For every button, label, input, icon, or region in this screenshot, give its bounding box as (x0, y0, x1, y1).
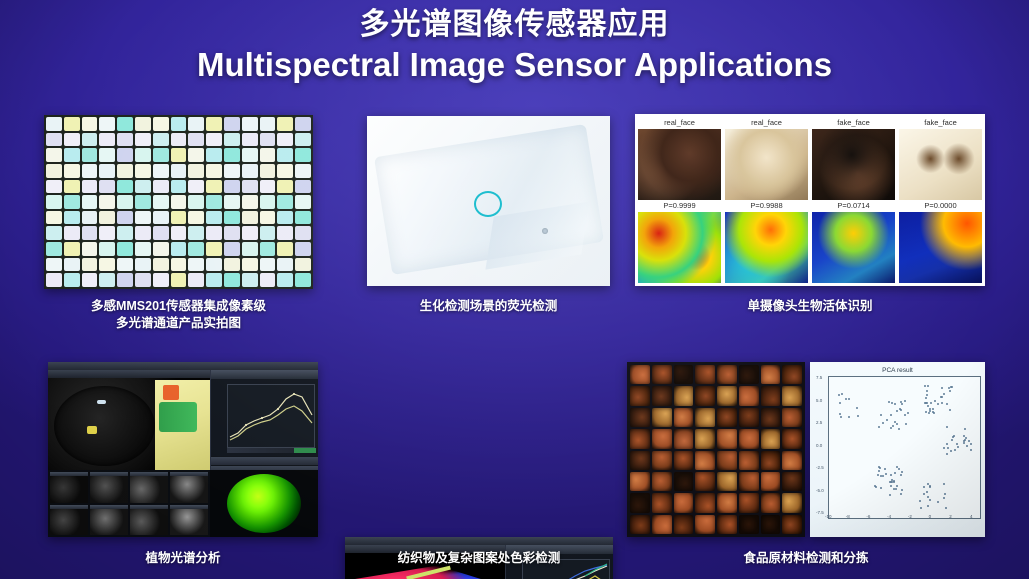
food-sample-cell (695, 451, 715, 470)
sample-speck (87, 426, 97, 434)
cfa-pixel (64, 133, 80, 147)
face-label: fake_face (812, 117, 895, 129)
cfa-pixel (206, 211, 222, 225)
cfa-pixel (260, 180, 276, 194)
food-sample-cell (674, 365, 694, 384)
cfa-pixel (82, 211, 98, 225)
cfa-pixel (260, 242, 276, 256)
cfa-pixel (295, 148, 311, 162)
pca-point (882, 475, 884, 477)
food-sample-cell (739, 472, 759, 491)
caption-sensor-array: 多感MMS201传感器集成像素级 多光谱通道产品实拍图 (44, 298, 313, 332)
food-sample-cell (739, 408, 759, 427)
pca-plot-area: 7.55.02.50.0-2.5-5.0-7.5-10-8-6-4-2024 (828, 376, 981, 519)
pca-point (925, 397, 927, 399)
caption-textile-color: 纺织物及复杂图案处色彩检测 (345, 550, 613, 567)
cfa-pixel (135, 117, 151, 131)
food-sample-cell (695, 515, 715, 534)
pca-point (895, 488, 897, 490)
cfa-pixel (64, 242, 80, 256)
caption-line-1: 纺织物及复杂图案处色彩检测 (345, 550, 613, 567)
label-package (155, 380, 210, 470)
pca-point (896, 423, 898, 425)
cfa-pixel (242, 226, 258, 240)
software-menubar (48, 362, 318, 370)
spectral-plot-area (227, 384, 315, 448)
cfa-pixel (171, 242, 187, 256)
pca-point (848, 416, 850, 418)
pca-point (919, 500, 921, 502)
pca-point (884, 468, 886, 470)
cfa-pixel (224, 273, 240, 287)
cfa-pixel (188, 148, 204, 162)
pca-point (920, 507, 922, 509)
face-heatmap (725, 212, 808, 283)
food-sample-grid (630, 365, 802, 534)
pca-point (966, 445, 968, 447)
pca-point (953, 435, 955, 437)
pca-point (879, 467, 881, 469)
food-sample-cell (739, 493, 759, 512)
cfa-pixel (117, 258, 133, 272)
cfa-pixel (99, 117, 115, 131)
cfa-pixel (117, 242, 133, 256)
cfa-pixel (260, 211, 276, 225)
color-filter-array-grid (44, 115, 313, 289)
cfa-pixel (64, 258, 80, 272)
pca-point (891, 481, 893, 483)
cfa-pixel (64, 226, 80, 240)
pca-y-tick-label: -7.5 (816, 510, 824, 515)
food-sample-cell (674, 493, 694, 512)
pca-point (885, 473, 887, 475)
cfa-pixel (82, 242, 98, 256)
pca-point (893, 481, 895, 483)
pca-point (933, 412, 935, 414)
channel-thumb (50, 472, 88, 503)
pca-point (957, 446, 959, 448)
pca-point (943, 393, 945, 395)
cfa-pixel (64, 195, 80, 209)
cfa-pixel (277, 133, 293, 147)
caption-line-2: 多光谱通道产品实拍图 (44, 315, 313, 332)
food-sample-cell (761, 493, 781, 512)
pca-point (927, 505, 929, 507)
face-probability: P=0.9999 (638, 200, 721, 212)
spectral-graph-panel (210, 370, 318, 470)
cfa-pixel (117, 117, 133, 131)
cfa-pixel (64, 211, 80, 225)
cfa-pixel (99, 164, 115, 178)
face-thumbnail (638, 129, 721, 200)
food-sample-cell (761, 365, 781, 384)
food-sample-cell (761, 429, 781, 448)
pca-point (848, 398, 850, 400)
pca-point (889, 494, 891, 496)
pca-x-tick-label: 4 (970, 514, 973, 519)
pca-y-tick-label: 0.0 (816, 443, 822, 448)
pca-point (946, 453, 948, 455)
pca-point (878, 426, 880, 428)
cfa-pixel (135, 211, 151, 225)
cfa-pixel (295, 242, 311, 256)
food-sample-cell (782, 493, 802, 512)
cfa-pixel (82, 258, 98, 272)
pca-point (947, 447, 949, 449)
cfa-pixel (260, 273, 276, 287)
cfa-pixel (242, 117, 258, 131)
cfa-pixel (277, 148, 293, 162)
food-sample-cell (717, 408, 737, 427)
food-sample-cell (739, 386, 759, 405)
cfa-pixel (277, 226, 293, 240)
pca-point (896, 485, 898, 487)
cfa-pixel (188, 117, 204, 131)
cfa-pixel (295, 273, 311, 287)
cfa-pixel (277, 195, 293, 209)
cfa-pixel (135, 258, 151, 272)
cfa-pixel (224, 164, 240, 178)
cfa-pixel (260, 164, 276, 178)
pca-point (926, 394, 928, 396)
pca-x-tick-label: -4 (887, 514, 891, 519)
slide-title-block: 多光谱图像传感器应用 Multispectral Image Sensor Ap… (0, 8, 1029, 84)
face-result-cell: fake_face P=0.0000 (899, 117, 982, 283)
food-sample-cell (652, 493, 672, 512)
cfa-pixel (82, 226, 98, 240)
cfa-pixel (64, 273, 80, 287)
cfa-pixel (64, 117, 80, 131)
false-color-result-view (210, 470, 318, 537)
cfa-pixel (46, 242, 62, 256)
cfa-pixel (206, 164, 222, 178)
food-sample-cell (695, 365, 715, 384)
cfa-pixel (135, 180, 151, 194)
pca-point (888, 401, 890, 403)
package-logo (159, 402, 196, 433)
cfa-pixel (171, 226, 187, 240)
live-video-view (48, 370, 210, 470)
pca-point (886, 419, 888, 421)
cfa-pixel (206, 242, 222, 256)
pca-point (904, 400, 906, 402)
food-sample-cell (717, 472, 737, 491)
cfa-pixel (188, 195, 204, 209)
cfa-pixel (153, 242, 169, 256)
cfa-pixel (188, 164, 204, 178)
cfa-pixel (277, 273, 293, 287)
cfa-pixel (224, 195, 240, 209)
food-sample-cell (674, 515, 694, 534)
food-sample-cell (630, 429, 650, 448)
channel-thumb (90, 472, 128, 503)
cfa-pixel (171, 258, 187, 272)
cfa-pixel (242, 211, 258, 225)
panel-pca-scatter: PCA result 7.55.02.50.0-2.5-5.0-7.5-10-8… (810, 362, 985, 537)
cfa-pixel (295, 195, 311, 209)
food-sample-cell (717, 515, 737, 534)
panel-sensor-array (44, 115, 313, 289)
food-sample-cell (652, 408, 672, 427)
panel-food-tray (627, 362, 805, 537)
face-label: fake_face (899, 117, 982, 129)
caption-plant-spectra: 植物光谱分析 (48, 550, 318, 567)
pca-y-tick-label: 5.0 (816, 398, 822, 403)
pca-point (900, 401, 902, 403)
pca-point (949, 409, 951, 411)
food-sample-cell (761, 472, 781, 491)
face-heatmap (638, 212, 721, 283)
cfa-pixel (171, 117, 187, 131)
cfa-pixel (117, 148, 133, 162)
cfa-pixel (135, 148, 151, 162)
pca-point (880, 414, 882, 416)
cfa-pixel (295, 164, 311, 178)
pca-point (901, 471, 903, 473)
food-sample-cell (782, 429, 802, 448)
pca-x-tick-label: 2 (949, 514, 952, 519)
cfa-pixel (82, 117, 98, 131)
pca-point (880, 487, 882, 489)
food-sample-cell (782, 386, 802, 405)
pca-point (857, 415, 859, 417)
face-thumbnail (725, 129, 808, 200)
pca-point (926, 390, 928, 392)
food-sample-cell (695, 429, 715, 448)
pca-point (930, 402, 932, 404)
cfa-pixel (242, 242, 258, 256)
cfa-pixel (295, 180, 311, 194)
channel-thumb (130, 505, 168, 536)
cfa-pixel (224, 226, 240, 240)
cfa-pixel (242, 180, 258, 194)
food-sample-cell (717, 386, 737, 405)
pca-point (943, 483, 945, 485)
pca-point (937, 501, 939, 503)
cfa-pixel (117, 180, 133, 194)
pca-y-tick-label: -5.0 (816, 488, 824, 493)
cfa-pixel (153, 273, 169, 287)
pca-point (943, 497, 945, 499)
cfa-pixel (295, 258, 311, 272)
face-probability: P=0.0000 (899, 200, 982, 212)
face-probability: P=0.0714 (812, 200, 895, 212)
pca-point (970, 443, 972, 445)
cfa-pixel (153, 258, 169, 272)
pca-point (943, 447, 945, 449)
caption-line-1: 植物光谱分析 (48, 550, 318, 567)
pca-point (839, 413, 841, 415)
food-sample-cell (761, 515, 781, 534)
cfa-pixel (224, 180, 240, 194)
food-sample-cell (695, 386, 715, 405)
food-sample-cell (630, 408, 650, 427)
pca-point (882, 422, 884, 424)
face-result-cell: real_face P=0.9988 (725, 117, 808, 283)
cfa-pixel (277, 242, 293, 256)
pca-point (907, 412, 909, 414)
cfa-pixel (117, 273, 133, 287)
pca-point (946, 403, 948, 405)
pca-point (839, 402, 841, 404)
food-sample-cell (652, 451, 672, 470)
channel-thumb (50, 505, 88, 536)
false-color-blob (227, 474, 300, 533)
face-label: real_face (638, 117, 721, 129)
cfa-pixel (171, 180, 187, 194)
sample-speck (97, 400, 106, 404)
cfa-pixel (242, 133, 258, 147)
cfa-pixel (99, 211, 115, 225)
cfa-pixel (224, 117, 240, 131)
food-sample-cell (782, 472, 802, 491)
cfa-pixel (99, 180, 115, 194)
food-sample-cell (652, 386, 672, 405)
pca-y-tick-label: 2.5 (816, 420, 822, 425)
pca-point (901, 403, 903, 405)
cfa-pixel (171, 195, 187, 209)
cfa-pixel (224, 133, 240, 147)
face-result-grid: real_face P=0.9999 real_face P=0.9988 fa… (638, 117, 982, 283)
pca-point (880, 475, 882, 477)
cfa-pixel (277, 164, 293, 178)
pca-x-tick-label: -10 (825, 514, 832, 519)
cfa-pixel (295, 133, 311, 147)
pca-point (968, 440, 970, 442)
pca-point (923, 486, 925, 488)
pca-point (838, 394, 840, 396)
pca-point (937, 403, 939, 405)
cfa-pixel (188, 258, 204, 272)
cfa-pixel (46, 273, 62, 287)
cfa-pixel (64, 164, 80, 178)
cfa-pixel (82, 273, 98, 287)
food-sample-cell (739, 365, 759, 384)
pca-point (925, 411, 927, 413)
cfa-pixel (242, 195, 258, 209)
cfa-pixel (260, 258, 276, 272)
pca-point (894, 403, 896, 405)
food-sample-cell (717, 493, 737, 512)
caption-line-1: 多感MMS201传感器集成像素级 (44, 298, 313, 315)
food-sample-cell (761, 408, 781, 427)
face-thumbnail (899, 129, 982, 200)
cfa-pixel (46, 195, 62, 209)
cfa-pixel (260, 117, 276, 131)
food-sample-cell (739, 451, 759, 470)
cfa-pixel (46, 211, 62, 225)
cfa-pixel (135, 226, 151, 240)
pca-x-tick-label: 0 (929, 514, 932, 519)
pca-point (898, 468, 900, 470)
pca-point (841, 393, 843, 395)
pca-point (924, 402, 926, 404)
cfa-pixel (135, 273, 151, 287)
channel-thumb (170, 472, 208, 503)
food-sample-cell (761, 386, 781, 405)
cfa-pixel (99, 148, 115, 162)
food-sample-cell (782, 365, 802, 384)
food-sample-cell (674, 451, 694, 470)
pca-point (964, 428, 966, 430)
pca-point (946, 443, 948, 445)
food-sample-cell (782, 515, 802, 534)
cfa-pixel (206, 195, 222, 209)
pca-point (894, 421, 896, 423)
food-sample-cell (739, 515, 759, 534)
slide-canvas: 多光谱图像传感器应用 Multispectral Image Sensor Ap… (0, 0, 1029, 579)
food-sample-cell (739, 429, 759, 448)
pca-point (898, 428, 900, 430)
cfa-pixel (99, 226, 115, 240)
food-sample-cell (630, 386, 650, 405)
food-sample-cell (782, 408, 802, 427)
pca-point (900, 474, 902, 476)
pca-point (951, 439, 953, 441)
cfa-pixel (188, 273, 204, 287)
cfa-pixel (224, 148, 240, 162)
pca-point (945, 507, 947, 509)
cfa-pixel (295, 211, 311, 225)
cfa-pixel (82, 195, 98, 209)
pca-point (928, 412, 930, 414)
cfa-pixel (277, 117, 293, 131)
cfa-pixel (82, 148, 98, 162)
food-sample-cell (652, 429, 672, 448)
cfa-pixel (99, 258, 115, 272)
face-result-cell: fake_face P=0.0714 (812, 117, 895, 283)
pca-x-tick-label: -8 (846, 514, 850, 519)
cfa-pixel (171, 148, 187, 162)
cfa-pixel (206, 180, 222, 194)
food-sample-cell (630, 493, 650, 512)
pca-point (965, 437, 967, 439)
pca-point (890, 474, 892, 476)
food-sample-cell (630, 515, 650, 534)
cfa-pixel (277, 211, 293, 225)
panel-plant-spectra (48, 362, 318, 537)
petri-dish (54, 386, 154, 466)
cfa-pixel (135, 195, 151, 209)
cfa-pixel (277, 258, 293, 272)
cfa-pixel (153, 133, 169, 147)
food-sample-cell (674, 408, 694, 427)
cfa-pixel (242, 164, 258, 178)
cfa-pixel (188, 242, 204, 256)
cfa-pixel (260, 195, 276, 209)
pca-point (923, 493, 925, 495)
cfa-pixel (46, 164, 62, 178)
pca-point (890, 414, 892, 416)
thumbnail-grid (48, 470, 210, 537)
pca-point (956, 443, 958, 445)
pca-point (970, 449, 972, 451)
pca-point (845, 398, 847, 400)
face-heatmap (812, 212, 895, 283)
pca-point (892, 425, 894, 427)
pca-point (927, 496, 929, 498)
pca-point (944, 493, 946, 495)
cfa-pixel (188, 211, 204, 225)
pca-point (856, 407, 858, 409)
pca-point (901, 489, 903, 491)
pca-point (905, 423, 907, 425)
cfa-pixel (206, 258, 222, 272)
cfa-pixel (117, 195, 133, 209)
food-sample-cell (695, 408, 715, 427)
channel-thumb (170, 505, 208, 536)
pca-point (904, 414, 906, 416)
